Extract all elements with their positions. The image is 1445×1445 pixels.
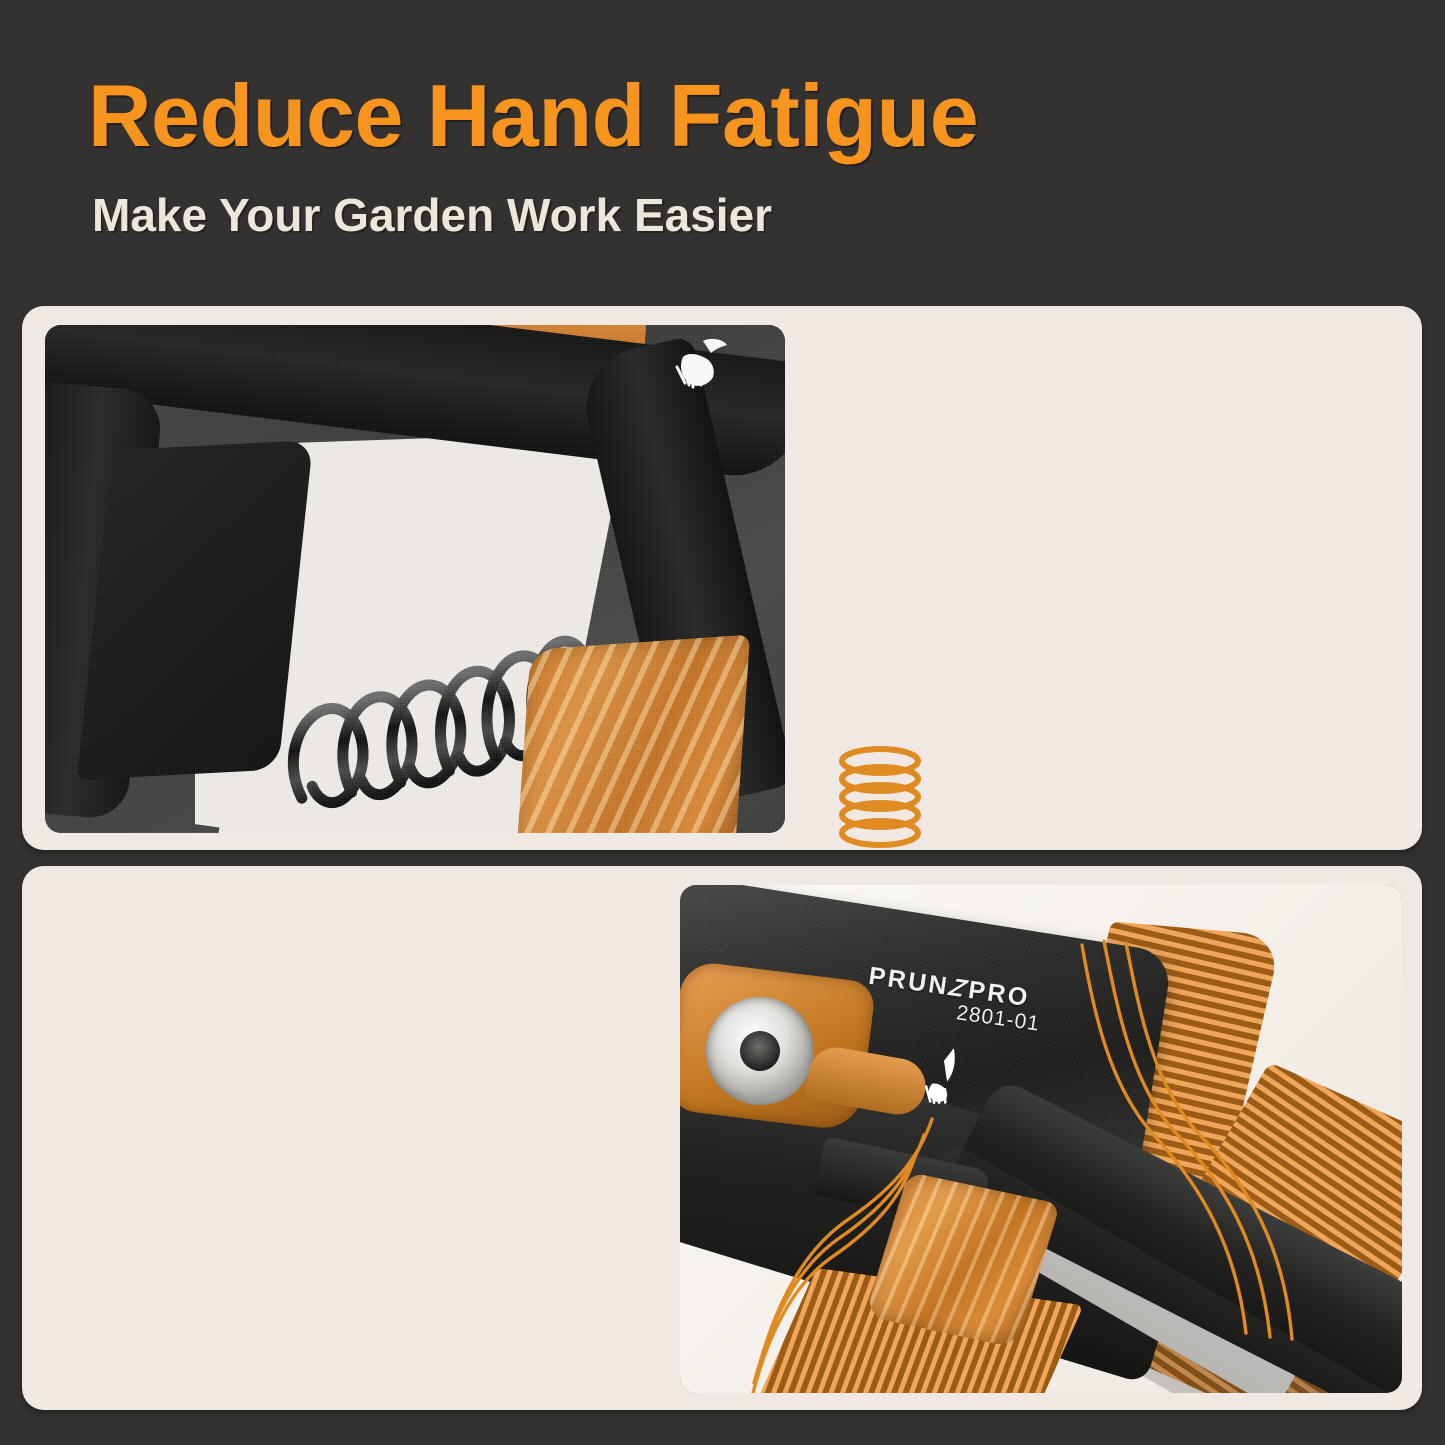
feature-block-spring: High Strength Spring Excellent Rebound P…	[834, 746, 1354, 850]
header: Reduce Hand Fatigue Make Your Garden Wor…	[0, 0, 1445, 300]
page-subtitle: Make Your Garden Work Easier	[92, 192, 772, 238]
spring-closeup-photo	[45, 325, 785, 833]
page-title: Reduce Hand Fatigue	[88, 72, 978, 160]
hand-swoosh-icon	[916, 1042, 972, 1108]
hand-swoosh-icon	[673, 337, 729, 389]
grip-ribs	[516, 635, 750, 833]
feature-panel-spring: High Strength Spring Excellent Rebound P…	[22, 306, 1422, 850]
feature-panel-handle: Ergonomic Handle Design Comfortable and …	[22, 866, 1422, 1410]
handle-closeup-photo: PRUNZPRO 2801-01	[680, 885, 1402, 1393]
spring-coil-icon	[834, 746, 926, 850]
orange-ribbed-grip	[516, 635, 750, 833]
